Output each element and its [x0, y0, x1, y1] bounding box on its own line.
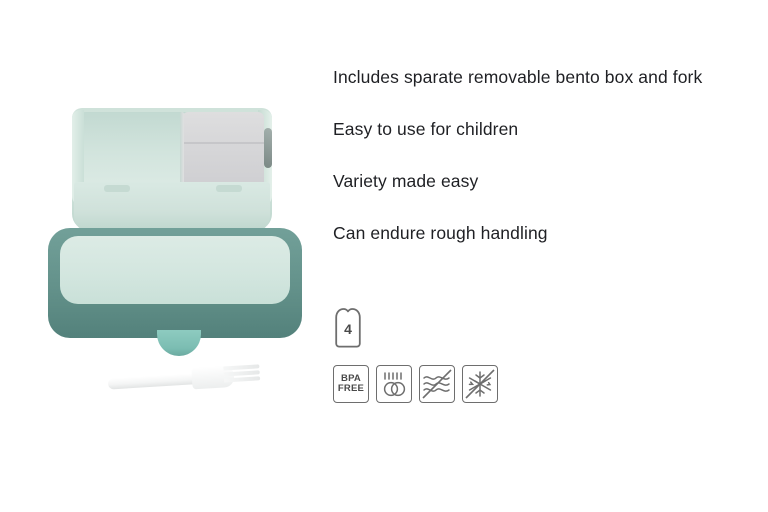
dishwasher-safe-icon	[376, 365, 412, 403]
snowflake-glyph	[464, 368, 496, 400]
fork-handle	[108, 373, 204, 390]
lunchbox-illustration	[0, 0, 320, 512]
feature-list: Includes sparate removable bento box and…	[333, 64, 733, 247]
fork-tine	[223, 364, 259, 370]
dishwasher-glyph	[379, 369, 409, 400]
feature-item: Can endure rough handling	[333, 220, 725, 247]
microwave-unsafe-icon	[419, 365, 455, 403]
lunchbox-lid-panel	[60, 236, 290, 304]
container-latch-left	[104, 185, 130, 192]
care-icon-row: BPA FREE	[333, 365, 498, 403]
feature-item: Includes sparate removable bento box and…	[333, 64, 725, 91]
bento-tray-wall	[180, 112, 184, 186]
microwave-wave-glyph	[421, 368, 453, 400]
feature-item: Variety made easy	[333, 168, 725, 195]
prohibition-slash	[423, 370, 451, 398]
bread-slice-icon: 4	[333, 307, 363, 349]
bread-capacity-badge: 4	[333, 307, 363, 349]
bread-capacity-value: 4	[344, 321, 352, 337]
container-hinge	[264, 128, 272, 168]
freezer-unsafe-icon	[462, 365, 498, 403]
fork	[107, 361, 258, 396]
fork-tine	[224, 376, 260, 382]
bpa-free-icon: BPA FREE	[333, 365, 369, 403]
container-latch-right	[216, 185, 242, 192]
bento-tray-divider	[182, 142, 264, 144]
lid-opening-tab	[157, 330, 201, 356]
bpa-free-line-2: FREE	[338, 384, 364, 395]
removable-bento-tray	[182, 112, 264, 186]
product-image	[0, 0, 320, 512]
fork-tine	[224, 370, 260, 376]
feature-item: Easy to use for children	[333, 116, 725, 143]
